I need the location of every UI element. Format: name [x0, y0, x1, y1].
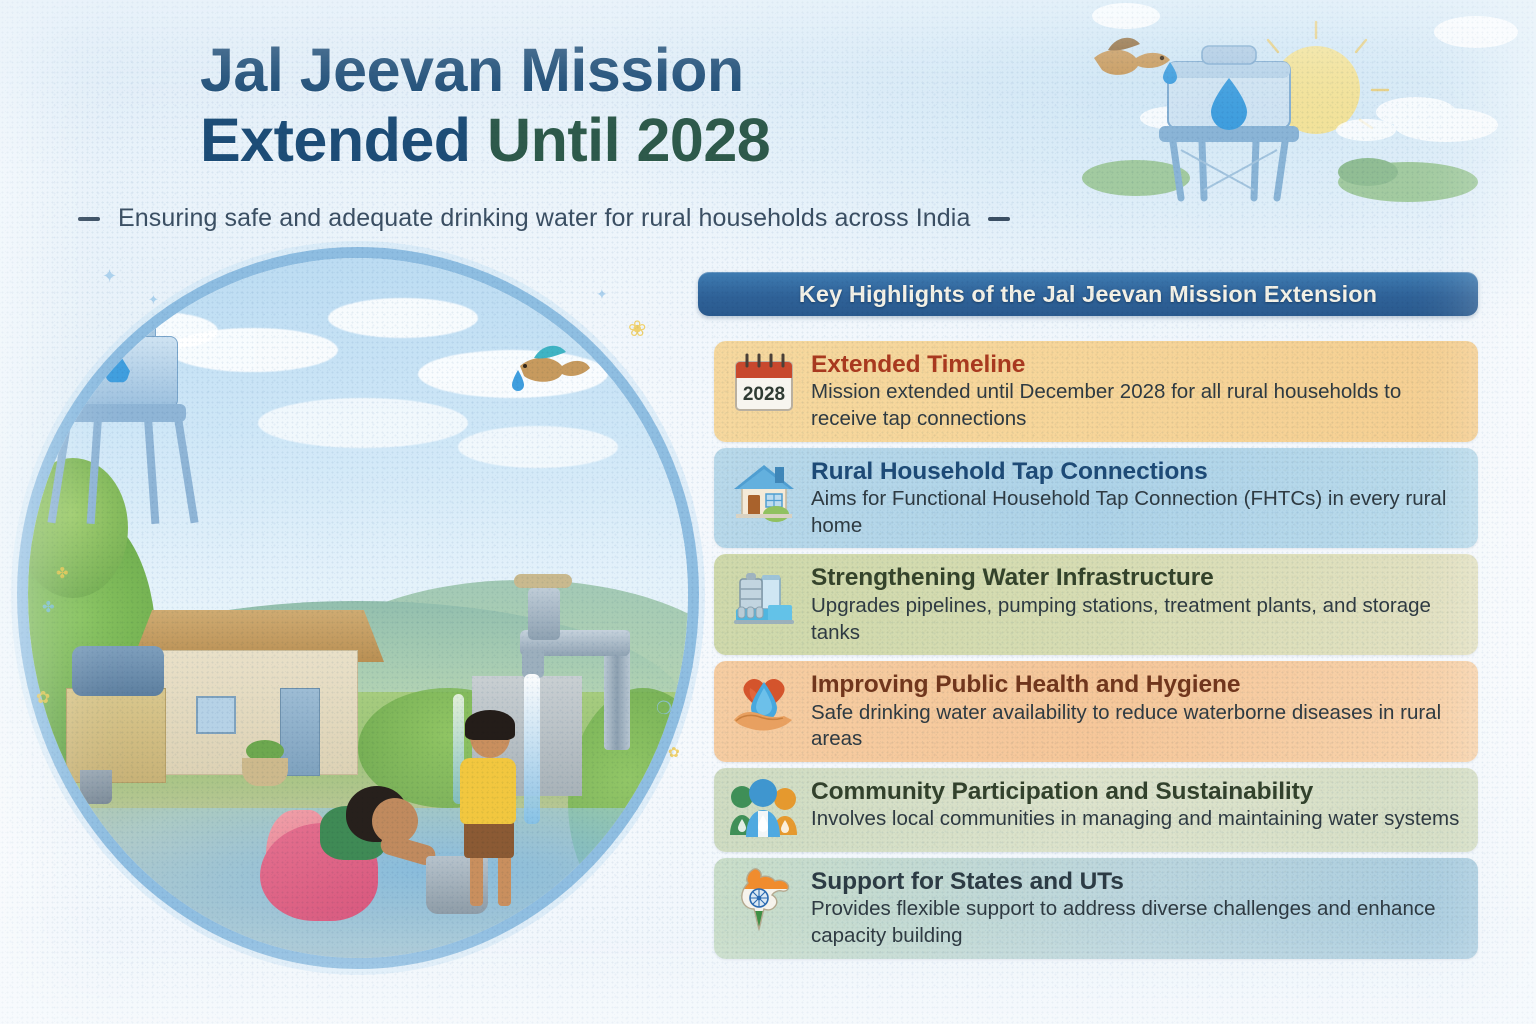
- boy-shorts: [464, 820, 514, 858]
- house-icon: [728, 457, 800, 523]
- bucket-icon: [80, 770, 112, 804]
- highlight-desc: Provides flexible support to address div…: [811, 896, 1462, 949]
- highlight-body: Extended Timeline Mission extended until…: [811, 350, 1462, 433]
- house-window: [196, 696, 236, 734]
- cloud-icon: [258, 398, 468, 448]
- svg-text:2028: 2028: [743, 384, 785, 405]
- flying-bird-icon: [516, 340, 592, 384]
- sparkle-icon: ✦: [148, 292, 159, 308]
- highlight-card-community-participation-and-sustainability[interactable]: Community Participation and Sustainabili…: [714, 768, 1478, 852]
- subtitle-text: Ensuring safe and adequate drinking wate…: [118, 204, 970, 233]
- highlight-desc: Aims for Functional Household Tap Connec…: [811, 486, 1462, 539]
- highlight-desc: Involves local communities in managing a…: [811, 806, 1462, 833]
- main-illustration: ✦ ✦ ✦ ❀ ✤ ✿ ✤ ❍ ✿: [28, 258, 688, 958]
- boy-shirt: [460, 758, 516, 824]
- title-line-2: Extended Until 2028: [200, 106, 770, 176]
- highlight-desc: Mission extended until December 2028 for…: [811, 379, 1462, 432]
- highlights-list: 2028 Extended Timeline Mission extended …: [714, 341, 1478, 965]
- water-tower-icon: [1159, 46, 1299, 198]
- tap-knob: [514, 574, 572, 588]
- highlight-desc: Upgrades pipelines, pumping stations, tr…: [811, 593, 1462, 646]
- highlight-title: Improving Public Health and Hygiene: [811, 671, 1462, 698]
- highlight-card-improving-public-health-and-hygiene[interactable]: Improving Public Health and Hygiene Safe…: [714, 661, 1478, 762]
- highlight-card-support-for-states-and-uts[interactable]: Support for States and UTs Provides flex…: [714, 858, 1478, 959]
- section-banner: Key Highlights of the Jal Jeevan Mission…: [698, 272, 1478, 316]
- storage-tank-base: [66, 688, 166, 783]
- highlight-card-rural-household-tap-connections[interactable]: Rural Household Tap Connections Aims for…: [714, 448, 1478, 549]
- boy-leg: [498, 850, 511, 906]
- highlight-desc: Safe drinking water availability to redu…: [811, 700, 1462, 753]
- cloud-icon: [328, 298, 478, 338]
- page-title: Jal Jeevan Mission Extended Until 2028: [200, 36, 770, 175]
- top-right-scenery: [1016, 0, 1536, 230]
- boy-hair: [465, 710, 515, 740]
- water-drop-icon: ❍: [656, 698, 672, 719]
- infographic-page: Jal Jeevan Mission Extended Until 2028 E…: [0, 0, 1536, 1024]
- water-tower-skirt: [54, 404, 186, 422]
- highlight-body: Improving Public Health and Hygiene Safe…: [811, 670, 1462, 753]
- heart-hand-water-icon: [728, 670, 800, 736]
- india-map-flag-icon: [728, 867, 800, 933]
- sparkle-icon: ✦: [102, 266, 117, 287]
- highlight-title: Support for States and UTs: [811, 868, 1462, 895]
- highlight-title: Strengthening Water Infrastructure: [811, 564, 1462, 591]
- highlight-card-extended-timeline[interactable]: 2028 Extended Timeline Mission extended …: [714, 341, 1478, 442]
- highlight-body: Strengthening Water Infrastructure Upgra…: [811, 563, 1462, 646]
- butterfly-icon: ✤: [56, 564, 69, 582]
- section-banner-label: Key Highlights of the Jal Jeevan Mission…: [799, 281, 1377, 308]
- tap-head: [528, 588, 560, 640]
- people-group-icon: [728, 777, 800, 843]
- flower-icon: ❀: [628, 316, 646, 342]
- highlight-body: Community Participation and Sustainabili…: [811, 777, 1462, 833]
- cloud-icon: [458, 426, 618, 468]
- highlight-card-strengthening-water-infrastructure[interactable]: Strengthening Water Infrastructure Upgra…: [714, 554, 1478, 655]
- title-line-2-plain: Extended: [200, 106, 487, 174]
- flower-icon: ✿: [36, 688, 50, 708]
- title-line-2-accent: Until 2028: [487, 106, 770, 174]
- illustration-frame: [28, 258, 688, 958]
- calendar-icon: 2028: [728, 350, 800, 416]
- dash-left-icon: [78, 217, 100, 221]
- plant-pot: [242, 758, 288, 786]
- title-line-1: Jal Jeevan Mission: [200, 36, 744, 104]
- sparkle-icon: ✦: [596, 286, 608, 303]
- highlight-body: Rural Household Tap Connections Aims for…: [811, 457, 1462, 540]
- boy-leg: [470, 850, 483, 906]
- cloud-icon: [168, 328, 338, 372]
- highlight-body: Support for States and UTs Provides flex…: [811, 867, 1462, 950]
- bird-with-droplet-icon: [1094, 38, 1177, 84]
- storage-tank-drum: [72, 646, 164, 696]
- highlight-title: Extended Timeline: [811, 351, 1462, 378]
- butterfly-icon: ✤: [42, 598, 55, 616]
- highlight-title: Rural Household Tap Connections: [811, 458, 1462, 485]
- page-subtitle: Ensuring safe and adequate drinking wate…: [78, 204, 1198, 233]
- highlight-title: Community Participation and Sustainabili…: [811, 778, 1462, 805]
- dash-right-icon: [988, 217, 1010, 221]
- treatment-plant-icon: [728, 563, 800, 629]
- water-stream: [524, 674, 540, 824]
- flower-icon: ✿: [668, 744, 680, 761]
